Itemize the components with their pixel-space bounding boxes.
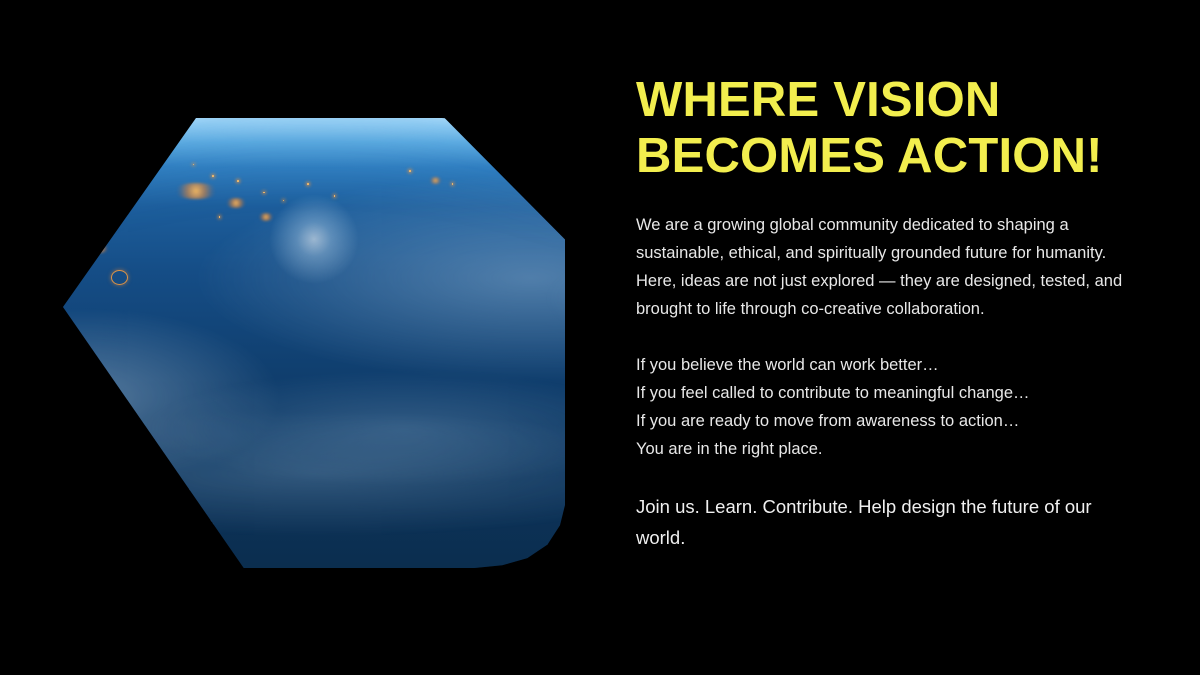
conditional-line: If you feel called to contribute to mean… bbox=[636, 379, 1142, 407]
conditional-line: If you believe the world can work better… bbox=[636, 351, 1142, 379]
cloud-layer bbox=[63, 118, 565, 568]
city-lights-layer bbox=[63, 118, 565, 568]
conditional-line: If you are ready to move from awareness … bbox=[636, 407, 1142, 435]
conditional-line: You are in the right place. bbox=[636, 435, 1142, 463]
conditional-lines: If you believe the world can work better… bbox=[636, 351, 1142, 463]
intro-paragraph: We are a growing global community dedica… bbox=[636, 211, 1142, 323]
text-column: WHERE VISION BECOMES ACTION! We are a gr… bbox=[636, 72, 1142, 553]
page-title: WHERE VISION BECOMES ACTION! bbox=[636, 72, 1142, 184]
earth-globe bbox=[63, 118, 565, 568]
body-copy: We are a growing global community dedica… bbox=[636, 211, 1142, 553]
slide-root: WHERE VISION BECOMES ACTION! We are a gr… bbox=[0, 0, 1200, 675]
closing-call-to-action: Join us. Learn. Contribute. Help design … bbox=[636, 491, 1142, 553]
earth-sphere bbox=[63, 118, 565, 568]
earth-from-space-photo bbox=[63, 118, 565, 568]
